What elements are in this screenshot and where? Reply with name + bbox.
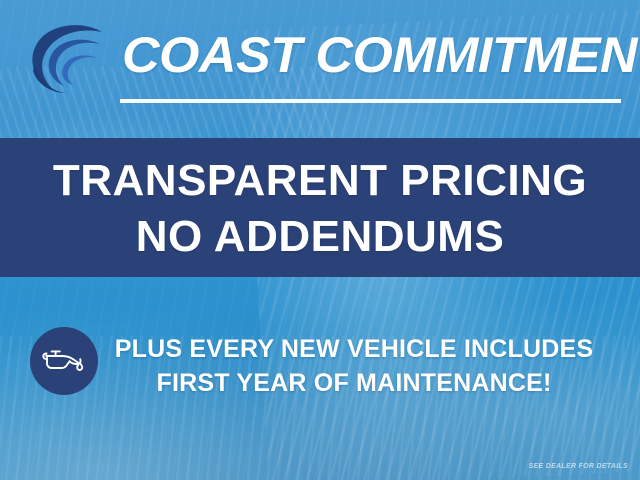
oil-can-maintenance-icon bbox=[30, 327, 98, 395]
brand-title: COAST COMMITMENT bbox=[122, 24, 640, 86]
coast-wave-logo-icon bbox=[24, 22, 120, 98]
promo-row: PLUS EVERY NEW VEHICLE INCLUDES FIRST YE… bbox=[0, 318, 640, 410]
promo-text: PLUS EVERY NEW VEHICLE INCLUDES FIRST YE… bbox=[108, 318, 600, 400]
coast-commitment-banner: COAST COMMITMENT TRANSPARENT PRICING NO … bbox=[0, 0, 640, 480]
header-divider bbox=[120, 99, 621, 103]
headline-band: TRANSPARENT PRICING NO ADDENDUMS bbox=[0, 138, 640, 277]
headline-line-2: NO ADDENDUMS bbox=[0, 212, 640, 262]
promo-line-1: PLUS EVERY NEW VEHICLE INCLUDES bbox=[108, 318, 600, 366]
disclaimer-text: SEE DEALER FOR DETAILS bbox=[529, 463, 628, 470]
headline-line-1: TRANSPARENT PRICING bbox=[0, 156, 640, 206]
promo-line-2: FIRST YEAR OF MAINTENANCE! bbox=[108, 366, 600, 400]
banner-header: COAST COMMITMENT bbox=[0, 0, 640, 138]
